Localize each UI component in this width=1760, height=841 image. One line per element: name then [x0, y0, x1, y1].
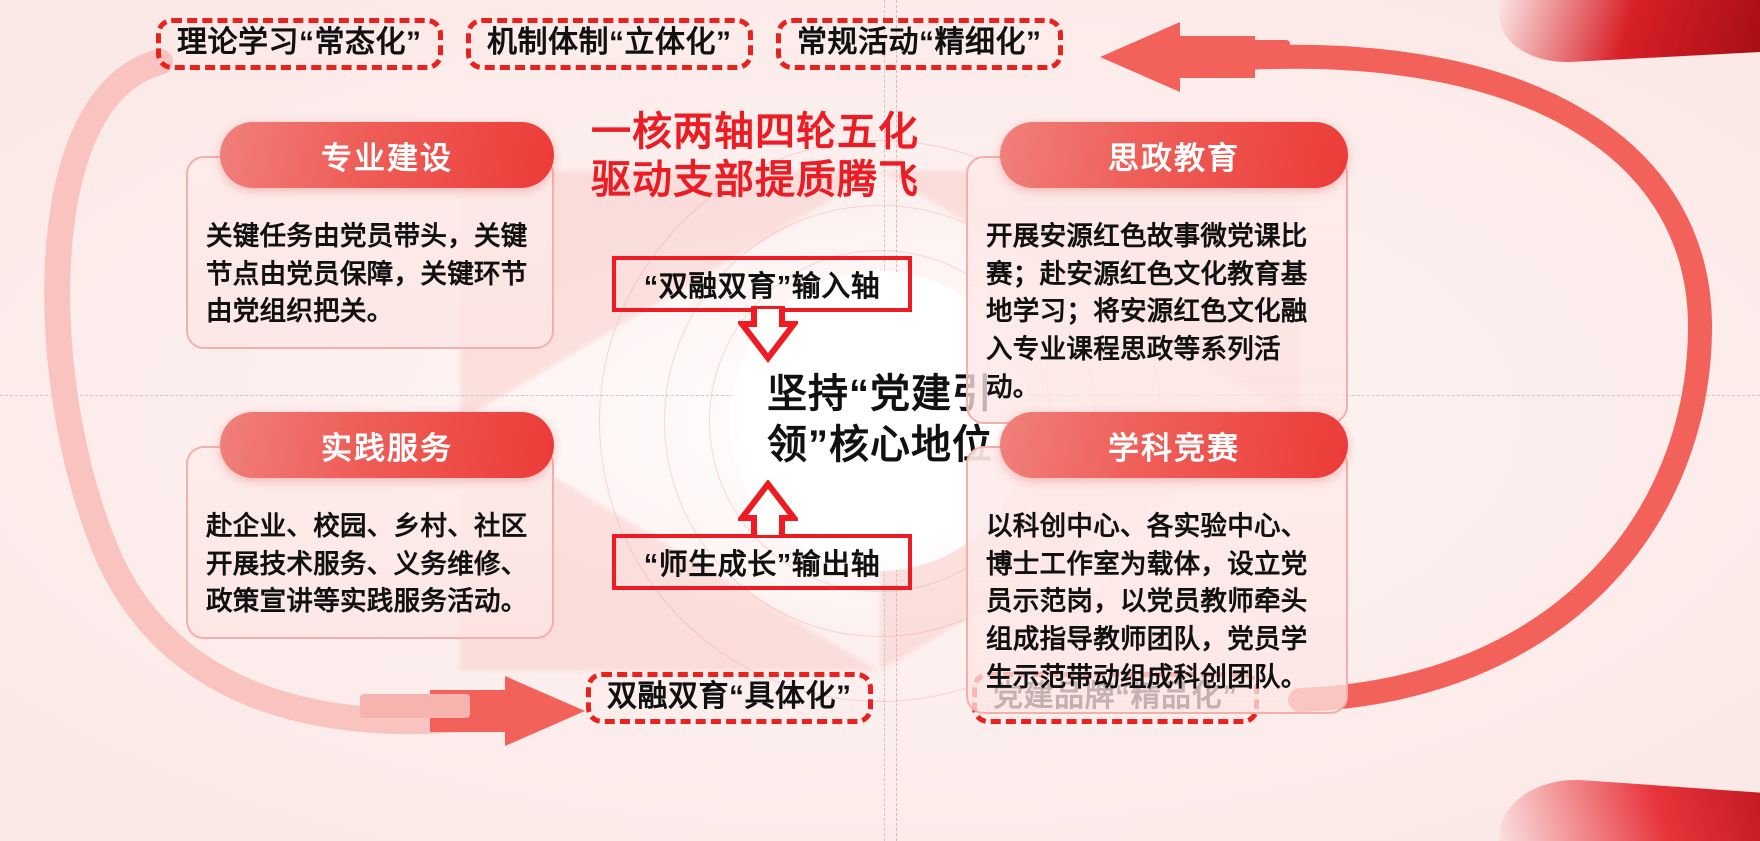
card-discipline-competition-text: 以科创中心、各实验中心、博士工作室为载体，设立党员示范岗，以党员教师牵头组成指导… — [986, 508, 1328, 696]
card-ideological-education-title: 思政教育 — [1000, 122, 1348, 188]
card-discipline-competition[interactable]: 以科创中心、各实验中心、博士工作室为载体，设立党员示范岗，以党员教师牵头组成指导… — [966, 412, 1348, 660]
chip-top-1-label: 理论学习“常态化” — [177, 28, 422, 58]
chip-top-3-label: 常规活动“精细化” — [797, 28, 1042, 58]
axis-input-box[interactable]: “双融双育”输入轴 — [612, 256, 912, 312]
chip-top-2[interactable]: 机制体制“立体化” — [466, 18, 753, 70]
card-discipline-competition-title: 学科竞赛 — [1000, 412, 1348, 478]
chip-bottom-1[interactable]: 双融双育“具体化” — [586, 672, 873, 724]
axis-output-box[interactable]: “师生成长”输出轴 — [612, 534, 912, 590]
chip-top-1[interactable]: 理论学习“常态化” — [156, 18, 443, 70]
axis-input-label: “双融双育”输入轴 — [644, 263, 881, 305]
card-ideological-education-text: 开展安源红色故事微党课比赛；赴安源红色文化教育基地学习；将安源红色文化融入专业课… — [986, 218, 1328, 406]
card-major-construction[interactable]: 关键任务由党员带头，关键节点由党员保障，关键环节由党组织把关。 专业建设 — [186, 122, 554, 332]
card-discipline-competition-body: 以科创中心、各实验中心、博士工作室为载体，设立党员示范岗，以党员教师牵头组成指导… — [966, 446, 1348, 714]
card-practice-service[interactable]: 赴企业、校园、乡村、社区开展技术服务、义务维修、政策宣讲等实践服务活动。 实践服… — [186, 412, 554, 660]
axis-output-label: “师生成长”输出轴 — [644, 541, 881, 583]
card-major-construction-title: 专业建设 — [220, 122, 554, 188]
chip-bottom-1-label: 双融双育“具体化” — [607, 682, 852, 712]
page-title-line-2: 驱动支部提质腾飞 — [545, 156, 965, 204]
chip-top-3[interactable]: 常规活动“精细化” — [776, 18, 1063, 70]
card-practice-service-title-label: 实践服务 — [321, 423, 453, 468]
arrow-down-icon — [738, 306, 798, 366]
card-practice-service-title: 实践服务 — [220, 412, 554, 478]
card-major-construction-title-label: 专业建设 — [321, 133, 453, 178]
infographic-canvas: 理论学习“常态化” 机制体制“立体化” 常规活动“精细化” 双融双育“具体化” … — [0, 0, 1760, 841]
card-practice-service-text: 赴企业、校园、乡村、社区开展技术服务、义务维修、政策宣讲等实践服务活动。 — [206, 508, 534, 621]
chip-top-2-label: 机制体制“立体化” — [487, 28, 732, 58]
arrow-up-icon — [738, 480, 798, 538]
card-ideological-education-title-label: 思政教育 — [1108, 133, 1240, 178]
card-discipline-competition-title-label: 学科竞赛 — [1108, 423, 1240, 468]
card-major-construction-text: 关键任务由党员带头，关键节点由党员保障，关键环节由党组织把关。 — [206, 218, 534, 331]
page-title-line-1: 一核两轴四轮五化 — [545, 108, 965, 156]
card-ideological-education-body: 开展安源红色故事微党课比赛；赴安源红色文化教育基地学习；将安源红色文化融入专业课… — [966, 156, 1348, 424]
card-ideological-education[interactable]: 开展安源红色故事微党课比赛；赴安源红色文化教育基地学习；将安源红色文化融入专业课… — [966, 122, 1348, 332]
page-title: 一核两轴四轮五化 驱动支部提质腾飞 — [545, 108, 965, 204]
